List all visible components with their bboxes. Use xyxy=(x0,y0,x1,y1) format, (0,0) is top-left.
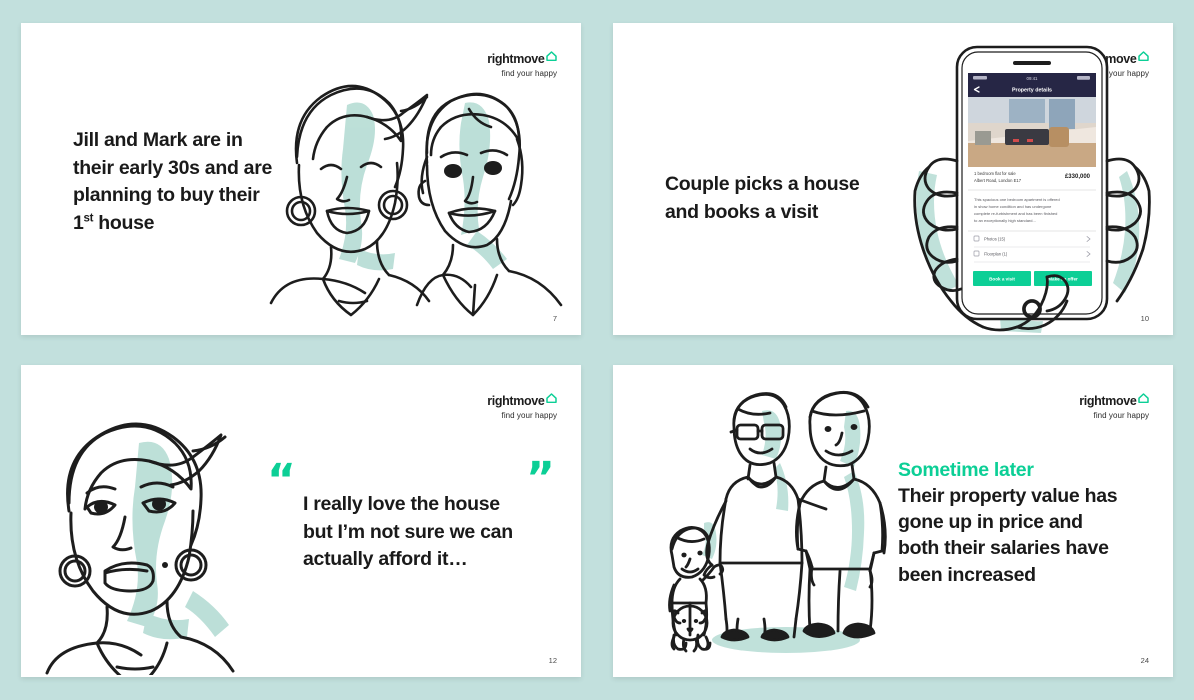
headline-ordinal-suffix: st xyxy=(84,213,94,225)
quote-open-icon: “ xyxy=(267,459,296,503)
quote-line-1: I really love the house xyxy=(303,493,500,515)
headline-line-4-rest: house xyxy=(93,212,154,234)
headline-line-1: Their property value has xyxy=(898,485,1117,507)
headline-line-4: been increased xyxy=(898,564,1036,586)
headline-line-4-number: 1 xyxy=(73,212,84,234)
page-number: 12 xyxy=(549,656,557,665)
slide-12[interactable]: rightmove find your happy xyxy=(21,365,581,677)
phone-row-floorplan: Floorplan (1) xyxy=(984,252,1008,257)
phone-listing-title-2: Albert Road, London E17 xyxy=(974,178,1022,183)
slide-7[interactable]: rightmove find your happy Jill and Mark … xyxy=(21,23,581,335)
family-illustration xyxy=(658,387,888,672)
phone-status-time: 09:41 xyxy=(1027,76,1039,81)
rightmove-logo: rightmove find your happy xyxy=(1079,391,1149,420)
kicker-text: Sometime later xyxy=(898,457,1143,483)
slide-deck: rightmove find your happy Jill and Mark … xyxy=(0,0,1194,700)
rightmove-logo: rightmove find your happy xyxy=(487,391,557,420)
slide-10[interactable]: rightmove find your happy Couple picks a… xyxy=(613,23,1173,335)
couple-portraits-illustration xyxy=(269,53,579,318)
phone-listing-title-1: 1 bedroom flat for sale xyxy=(974,171,1016,176)
phone-row-photos: Photos (15) xyxy=(984,237,1006,242)
page-title: Couple picks a house and books a visit xyxy=(665,171,915,226)
page-title: Sometime later Their property value has … xyxy=(898,457,1143,588)
svg-text:Book a visit: Book a visit xyxy=(989,277,1015,282)
house-icon xyxy=(546,391,557,407)
logo-tagline: find your happy xyxy=(1079,412,1149,420)
page-number: 24 xyxy=(1141,656,1149,665)
headline-line-2: gone up in price and xyxy=(898,511,1083,533)
page-number: 7 xyxy=(553,314,557,323)
quote-text: I really love the house but I’m not sure… xyxy=(303,491,549,574)
phone-listing-price: £330,000 xyxy=(1065,174,1091,180)
slide-24[interactable]: rightmove find your happy xyxy=(613,365,1173,677)
logo-tagline: find your happy xyxy=(487,412,557,420)
quote-line-2: but I’m not sure we can xyxy=(303,521,513,543)
headline-line-2: their early 30s and are xyxy=(73,157,272,179)
hand-holding-phone-illustration: 09:41 Property details xyxy=(913,43,1168,333)
worried-woman-illustration xyxy=(43,395,273,675)
headline-line-1: Jill and Mark are in xyxy=(73,129,243,151)
quote-line-3: actually afford it… xyxy=(303,548,467,570)
headline-line-2: and books a visit xyxy=(665,201,818,223)
logo-wordmark: rightmove xyxy=(487,395,544,408)
logo-wordmark: rightmove xyxy=(1079,395,1136,408)
headline-line-3: both their salaries have xyxy=(898,537,1109,559)
headline-line-3: planning to buy their xyxy=(73,184,260,206)
page-number: 10 xyxy=(1141,314,1149,323)
headline-line-1: Couple picks a house xyxy=(665,173,859,195)
phone-nav-title: Property details xyxy=(1012,88,1052,94)
house-icon xyxy=(1138,391,1149,407)
